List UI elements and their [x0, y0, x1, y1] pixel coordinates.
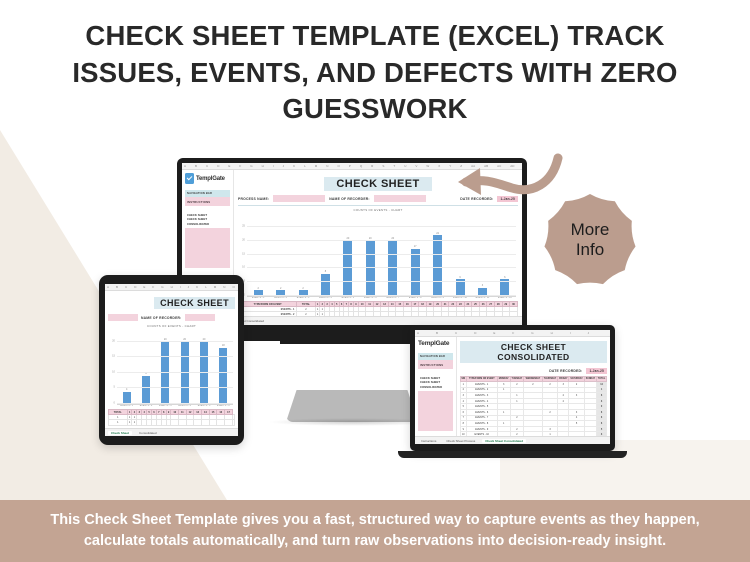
- tablet-meta-row: NAME OF RECORDER:: [108, 314, 235, 321]
- chart-x-tick-label: EVENTS - 2: [269, 297, 291, 299]
- tablet-recorder-label: NAME OF RECORDER:: [141, 316, 182, 320]
- banner-line-2: calculate totals automatically, and turn…: [72, 531, 678, 552]
- column-letter[interactable]: G: [250, 164, 252, 168]
- page-title-line-2: ISSUES, EVENTS, AND DEFECTS WITH ZERO: [22, 55, 728, 92]
- chart-x-tick-label: EVENTS - 2: [136, 405, 155, 407]
- column-letter[interactable]: N: [223, 285, 225, 289]
- chart-gridline: 15: [117, 356, 233, 357]
- table-row[interactable]: 111: [109, 420, 235, 425]
- curved-arrow-icon: [440, 138, 570, 213]
- chart-x-labels: EVENTS - 1EVENTS - 2EVENTS - 3EVENTS - 4…: [247, 297, 516, 299]
- process-name-input[interactable]: [273, 195, 325, 202]
- column-letter[interactable]: M: [315, 164, 318, 168]
- sidebar-item-instructions[interactable]: INSTRUCTIONS: [185, 197, 230, 206]
- laptop-meta-row: DATE RECORDED: 1-Jan-25: [460, 368, 607, 374]
- sheet-tab[interactable]: Check Sheet Process: [443, 439, 478, 443]
- column-letter[interactable]: N: [326, 164, 328, 168]
- sheet-tab[interactable]: Check Sheet Consolidated: [482, 439, 526, 443]
- column-letter[interactable]: D: [134, 285, 136, 289]
- laptop-base: [398, 451, 627, 458]
- laptop-date-label: DATE RECORDED:: [549, 369, 582, 373]
- chart-gridline: 0: [117, 403, 233, 404]
- chart-y-tick-label: 10: [112, 370, 115, 373]
- page-title-line-1: CHECK SHEET TEMPLATE (EXCEL) TRACK: [22, 18, 728, 55]
- column-letter[interactable]: R: [371, 164, 373, 168]
- table-cell[interactable]: [171, 420, 179, 425]
- laptop-sheet-tabs: InstructionsCheck Sheet ProcessCheck She…: [415, 436, 610, 444]
- column-letter[interactable]: F: [152, 285, 154, 289]
- chart-bar: [321, 274, 330, 296]
- more-info-line-2: Info: [576, 240, 604, 260]
- column-letter[interactable]: C: [455, 331, 457, 335]
- column-letter[interactable]: H: [171, 285, 173, 289]
- clipboard-check-icon: [185, 173, 194, 184]
- column-letter[interactable]: V: [415, 164, 417, 168]
- sheet-tab[interactable]: Check Sheet: [108, 431, 132, 435]
- bottom-banner: This Check Sheet Template gives you a fa…: [0, 500, 750, 562]
- laptop-screen: ABCDEFGHIJ TemplGate NAVIGATION BAR INST…: [415, 330, 610, 444]
- table-cell[interactable]: [225, 420, 233, 425]
- column-letter[interactable]: E: [493, 331, 495, 335]
- column-letter[interactable]: A: [184, 164, 186, 168]
- column-letter[interactable]: A: [417, 331, 419, 335]
- chart-x-tick-label: EVENTS - 10: [449, 297, 471, 299]
- column-letter[interactable]: L: [205, 285, 207, 289]
- column-letter[interactable]: K: [293, 164, 295, 168]
- column-letter[interactable]: B: [116, 285, 118, 289]
- chart-y-tick-label: 0: [114, 402, 115, 405]
- table-cell-total: 1: [109, 420, 128, 425]
- column-letter[interactable]: C: [125, 285, 127, 289]
- chart-y-tick-label: 25: [242, 224, 245, 227]
- tablet-sheet-title: CHECK SHEET: [154, 297, 235, 309]
- sheet-tab[interactable]: Instructions: [418, 439, 439, 443]
- laptop-sidebar-filler: [418, 391, 453, 431]
- laptop-sheet-main: CHECK SHEET CONSOLIDATED DATE RECORDED: …: [457, 337, 610, 444]
- chart-x-tick-label: EVENTS - 3: [156, 405, 175, 407]
- column-letter[interactable]: J: [188, 285, 190, 289]
- column-letter[interactable]: Q: [360, 164, 362, 168]
- column-letter[interactable]: F: [239, 164, 241, 168]
- brand-logo: TemplGate: [185, 173, 230, 184]
- chart-x-tick-label: EVENTS - 5: [194, 405, 213, 407]
- column-letter[interactable]: T: [393, 164, 395, 168]
- sidebar-links: CHECK SHEET CHECK SHEET CONSOLIDATED: [185, 211, 230, 228]
- laptop-sidebar-nav-header: NAVIGATION BAR: [418, 353, 453, 360]
- chart-x-tick-label: EVENTS - 1: [247, 297, 269, 299]
- laptop-column-header-bar: ABCDEFGHIJ: [415, 330, 610, 337]
- column-letter[interactable]: D: [474, 331, 476, 335]
- page-title-line-3: GUESSWORK: [22, 91, 728, 128]
- chart-gridline: 10: [117, 372, 233, 373]
- column-letter[interactable]: F: [512, 331, 514, 335]
- column-letter[interactable]: H: [551, 331, 553, 335]
- tablet-chart-title: COUNTS OF EVENTS - CHART: [108, 324, 235, 328]
- chart-y-tick-label: 20: [112, 339, 115, 342]
- table-cell[interactable]: [202, 420, 210, 425]
- chart-bar: [433, 235, 442, 296]
- column-letter[interactable]: B: [195, 164, 197, 168]
- tablet-chart: COUNTS OF EVENTS - CHART 4920202018 0510…: [108, 324, 235, 407]
- column-letter[interactable]: E: [143, 285, 145, 289]
- column-letter[interactable]: J: [588, 331, 590, 335]
- chart-bar: [161, 342, 169, 405]
- tablet-chart-plot-area: 4920202018 05101520: [117, 329, 233, 405]
- sidebar-filler: [185, 228, 230, 268]
- process-name-label: PROCESS NAME:: [238, 197, 269, 201]
- chart-y-tick-label: 15: [112, 355, 115, 358]
- column-letter[interactable]: P: [349, 164, 351, 168]
- column-letter[interactable]: D: [217, 164, 219, 168]
- chart-y-tick-label: 5: [114, 386, 115, 389]
- banner-line-1: This Check Sheet Template gives you a fa…: [38, 510, 711, 531]
- chart-x-tick-label: EVENTS - 1: [117, 405, 136, 407]
- chart-x-tick-label: EVENTS - 12: [494, 297, 516, 299]
- chart-gridline: 25: [247, 226, 516, 227]
- chart-x-tick-label: EVENTS - 6: [214, 405, 233, 407]
- laptop-brand-name: TemplGate: [418, 340, 449, 347]
- table-cell[interactable]: [217, 420, 225, 425]
- laptop-sidebar-item-consolidated[interactable]: CHECK SHEET CONSOLIDATED: [420, 380, 451, 389]
- chart-x-tick-label: EVENTS - 11: [471, 297, 493, 299]
- laptop-mockup: ABCDEFGHIJ TemplGate NAVIGATION BAR INST…: [410, 325, 615, 451]
- chart-bar: [142, 376, 150, 404]
- chart-gridline: 5: [117, 387, 233, 388]
- chart-gridline: 20: [247, 240, 516, 241]
- tablet-mockup: ABCDEFGHIJKLMNOPQ CHECK SHEET NAME OF RE…: [99, 275, 244, 445]
- consolidated-table: S/NTYPE/FORM OR EVENTMONDAYTUESDAYWEDNES…: [460, 376, 607, 444]
- sidebar-item-consolidated[interactable]: CONSOLIDATED: [187, 222, 228, 226]
- tablet-sheet-tabs: Check SheetConsolidated: [105, 428, 238, 436]
- table-cell[interactable]: [232, 420, 234, 425]
- consolidated-spreadsheet: ABCDEFGHIJ TemplGate NAVIGATION BAR INST…: [415, 330, 610, 444]
- sidebar-nav-header: NAVIGATION BAR: [185, 190, 230, 197]
- column-letter[interactable]: I: [273, 164, 274, 168]
- chart-gridline: 20: [117, 341, 233, 342]
- tablet-recorder-input[interactable]: [185, 314, 215, 321]
- chart-x-tick-label: EVENTS - 3: [292, 297, 314, 299]
- chart-x-tick-label: EVENTS - 4: [314, 297, 336, 299]
- chart-x-tick-label: EVENTS - 6: [359, 297, 381, 299]
- chart-plot-area: 22282020201722636 0510152025: [247, 213, 516, 297]
- laptop-sheet-title: CHECK SHEET CONSOLIDATED: [460, 341, 607, 363]
- monitor-stand-neck: [280, 341, 424, 344]
- monitor-chart: COUNTS OF EVENTS - CHART 222820202017226…: [238, 208, 518, 299]
- column-letter[interactable]: A: [107, 285, 109, 289]
- laptop-sidebar: TemplGate NAVIGATION BAR INSTRUCTIONS CH…: [415, 337, 457, 444]
- chart-x-tick-label: EVENTS - 9: [426, 297, 448, 299]
- column-letter[interactable]: J: [283, 164, 285, 168]
- sheet-title: CHECK SHEET: [324, 177, 431, 191]
- column-letter[interactable]: E: [228, 164, 230, 168]
- column-letter[interactable]: O: [232, 285, 234, 289]
- chart-gridline: 5: [247, 281, 516, 282]
- chart-bar: [181, 342, 189, 405]
- laptop-date-value[interactable]: 1-Jan-25: [586, 368, 607, 374]
- column-letter[interactable]: U: [404, 164, 406, 168]
- column-letter[interactable]: I: [180, 285, 181, 289]
- chart-gridline: 10: [247, 267, 516, 268]
- column-letter[interactable]: K: [196, 285, 198, 289]
- chart-gridline: 0: [247, 295, 516, 296]
- tablet-screen: ABCDEFGHIJKLMNOPQ CHECK SHEET NAME OF RE…: [105, 284, 238, 436]
- tablet-column-header-bar: ABCDEFGHIJKLMNOPQ: [105, 284, 238, 291]
- column-letter[interactable]: G: [161, 285, 163, 289]
- column-letter[interactable]: L: [304, 164, 306, 168]
- recorder-name-input[interactable]: [374, 195, 426, 202]
- tablet-data-table: TOTAL1234567891011121314151617111111: [108, 409, 235, 426]
- column-letter[interactable]: C: [206, 164, 208, 168]
- column-letter[interactable]: H: [262, 164, 264, 168]
- column-letter[interactable]: G: [531, 331, 533, 335]
- column-letter[interactable]: W: [426, 164, 429, 168]
- page-title: CHECK SHEET TEMPLATE (EXCEL) TRACK ISSUE…: [0, 18, 750, 128]
- chart-x-tick-label: EVENTS - 7: [382, 297, 404, 299]
- laptop-brand-logo: TemplGate: [418, 340, 453, 347]
- column-letter[interactable]: I: [570, 331, 571, 335]
- laptop-sidebar-item-instructions[interactable]: INSTRUCTIONS: [418, 360, 453, 369]
- column-letter[interactable]: M: [214, 285, 217, 289]
- chart-x-tick-label: EVENTS - 5: [337, 297, 359, 299]
- column-letter[interactable]: S: [382, 164, 384, 168]
- chart-gridline: 15: [247, 254, 516, 255]
- chart-y-tick-label: 20: [242, 238, 245, 241]
- table-cell[interactable]: [194, 420, 202, 425]
- table-cell[interactable]: [179, 420, 186, 425]
- table-cell[interactable]: [186, 420, 194, 425]
- chart-y-tick-label: 15: [242, 252, 245, 255]
- sheet-tab[interactable]: Consolidated: [136, 431, 160, 435]
- chart-y-tick-label: 10: [242, 266, 245, 269]
- tablet-sheet-main: CHECK SHEET NAME OF RECORDER: COUNTS OF …: [105, 291, 238, 436]
- more-info-line-1: More: [571, 220, 610, 240]
- tablet-chart-x-labels: EVENTS - 1EVENTS - 2EVENTS - 3EVENTS - 4…: [117, 405, 233, 407]
- tablet-check-sheet: ABCDEFGHIJKLMNOPQ CHECK SHEET NAME OF RE…: [105, 284, 238, 436]
- chart-bar: [200, 342, 208, 405]
- recorder-name-label: NAME OF RECORDER:: [329, 197, 370, 201]
- table-cell[interactable]: [209, 420, 217, 425]
- brand-name: TemplGate: [196, 176, 225, 182]
- column-letter[interactable]: O: [337, 164, 339, 168]
- tablet-process-input[interactable]: [108, 314, 138, 321]
- chart-x-tick-label: EVENTS - 4: [175, 405, 194, 407]
- chart-x-tick-label: EVENTS - 8: [404, 297, 426, 299]
- chart-bar: [411, 249, 420, 296]
- column-letter[interactable]: B: [436, 331, 438, 335]
- laptop-sidebar-links: CHECK SHEET CHECK SHEET CONSOLIDATED: [418, 374, 453, 391]
